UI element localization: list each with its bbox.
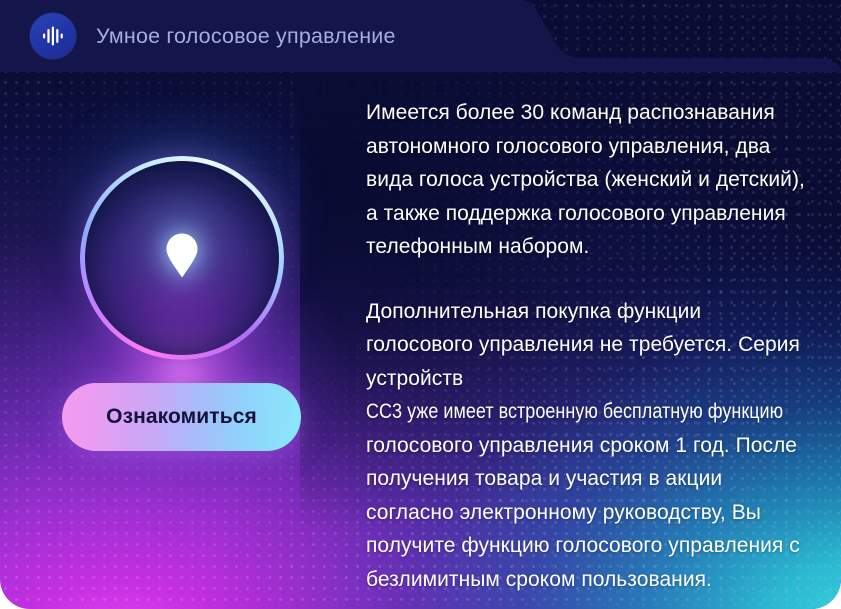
description-column: Имеется более 30 команд распознавания ав… <box>366 96 806 596</box>
paragraph-subscription-part1: Дополнительная покупка функции голосовог… <box>366 300 800 390</box>
paragraph-subscription-emphasis: CC3 уже имеет встроенную бесплатную функ… <box>366 395 783 429</box>
voice-control-promo-banner: Умное голосовое управление Ознакомиться … <box>0 0 841 609</box>
voice-wave-icon <box>30 13 76 59</box>
voice-pin-icon <box>165 233 199 284</box>
orb-ring <box>80 156 284 360</box>
learn-more-button[interactable]: Ознакомиться <box>62 383 301 451</box>
banner-header: Умное голосовое управление <box>0 0 841 72</box>
paragraph-features: Имеется более 30 команд распознавания ав… <box>366 96 806 264</box>
header-content: Умное голосовое управление <box>0 0 396 72</box>
page-title: Умное голосовое управление <box>96 24 396 49</box>
paragraph-subscription: Дополнительная покупка функции голосовог… <box>366 295 806 597</box>
paragraph-subscription-part2: голосового управления сроком 1 год. Посл… <box>366 434 800 591</box>
voice-assistant-orb-icon <box>62 140 302 380</box>
